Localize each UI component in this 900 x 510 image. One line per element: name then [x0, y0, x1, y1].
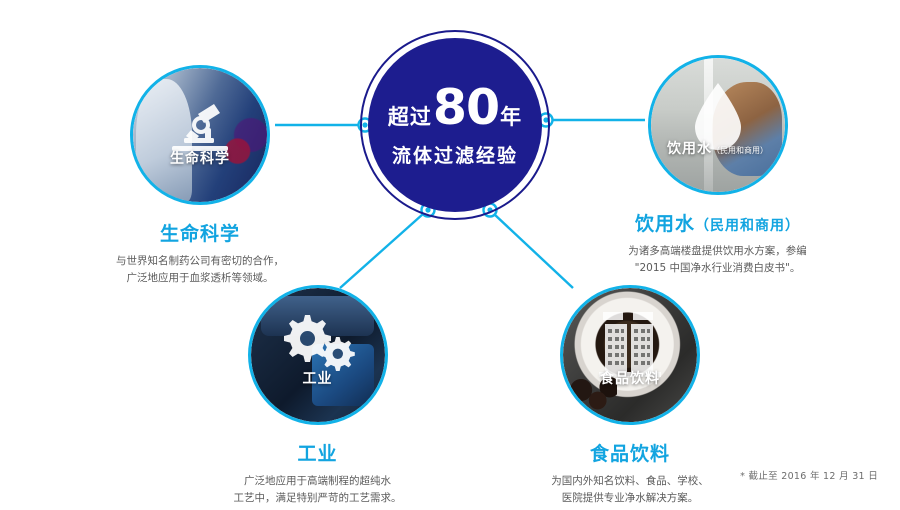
photo-caption-industrial: 工业 — [251, 368, 385, 388]
node-desc-line1: 为诸多高端楼盘提供饮用水方案，参编 — [580, 243, 855, 260]
node-desc-line1: 广泛地应用于高端制程的超纯水 — [195, 473, 440, 490]
connector-line-industrial — [340, 214, 423, 288]
node-title-main: 饮用水 — [635, 213, 695, 235]
node-title-drinking-water: 饮用水（民用和商用） — [580, 209, 855, 236]
node-desc-line2: 工艺中，满足特别严苛的工艺需求。 — [195, 490, 440, 507]
node-industrial[interactable]: 工业 工业 广泛地应用于高端制程的超纯水 工艺中，满足特别严苛的工艺需求。 — [195, 285, 440, 508]
photo-inner-drinking-water — [651, 58, 785, 192]
infographic-stage: 超过80年 流体过滤经验 — [0, 0, 900, 510]
node-desc-line2: 医院提供专业净水解决方案。 — [505, 490, 755, 507]
photo-circle-drinking-water[interactable]: 饮用水（民用和商用） — [648, 55, 788, 195]
photo-inner-industrial — [251, 288, 385, 422]
node-title-industrial: 工业 — [195, 439, 440, 466]
node-desc-food-beverage: 为国内外知名饮料、食品、学校、 医院提供专业净水解决方案。 — [505, 473, 755, 508]
photo-caption-text: 工业 — [303, 371, 333, 387]
node-desc-life-science: 与世界知名制药公司有密切的合作， 广泛地应用于血浆透析等领域。 — [65, 253, 335, 288]
hub-headline: 超过80年 — [388, 83, 522, 132]
center-hub: 超过80年 流体过滤经验 — [360, 30, 550, 220]
node-title-food-beverage: 食品饮料 — [505, 439, 755, 466]
photo-caption-text: 饮用水 — [667, 141, 712, 157]
photo-circle-industrial[interactable]: 工业 — [248, 285, 388, 425]
node-title-life-science: 生命科学 — [65, 219, 335, 246]
footnote: * 截止至 2016 年 12 月 31 日 — [740, 468, 878, 482]
photo-caption-drinking-water: 饮用水（民用和商用） — [651, 138, 785, 158]
photo-caption-life-science: 生命科学 — [133, 148, 267, 168]
photo-caption-text: 食品饮料 — [600, 371, 660, 387]
hub-subtitle: 流体过滤经验 — [392, 141, 518, 168]
connector-line-food-beverage — [494, 214, 573, 288]
center-hub-fill: 超过80年 流体过滤经验 — [368, 38, 542, 212]
hub-prefix: 超过 — [388, 107, 432, 128]
node-desc-line1: 为国内外知名饮料、食品、学校、 — [505, 473, 755, 490]
node-desc-drinking-water: 为诸多高端楼盘提供饮用水方案，参编 "2015 中国净水行业消费白皮书"。 — [580, 243, 855, 278]
node-title-paren: （民用和商用） — [695, 218, 800, 234]
node-life-science[interactable]: 生命科学 生命科学 与世界知名制药公司有密切的合作， 广泛地应用于血浆透析等领域… — [65, 65, 335, 288]
node-desc-industrial: 广泛地应用于高端制程的超纯水 工艺中，满足特别严苛的工艺需求。 — [195, 473, 440, 508]
photo-caption-food-beverage: 食品饮料 — [563, 368, 697, 388]
photo-caption-sub: （民用和商用） — [712, 146, 768, 155]
node-food-beverage[interactable]: 食品饮料 食品饮料 为国内外知名饮料、食品、学校、 医院提供专业净水解决方案。 — [505, 285, 755, 508]
photo-inner-food-beverage — [563, 288, 697, 422]
hub-number: 80 — [432, 83, 500, 132]
node-desc-line2: "2015 中国净水行业消费白皮书"。 — [580, 260, 855, 277]
photo-circle-life-science[interactable]: 生命科学 — [130, 65, 270, 205]
photo-caption-text: 生命科学 — [170, 151, 230, 167]
node-desc-line1: 与世界知名制药公司有密切的合作， — [65, 253, 335, 270]
hub-suffix: 年 — [500, 107, 522, 128]
photo-inner-life-science — [133, 68, 267, 202]
photo-circle-food-beverage[interactable]: 食品饮料 — [560, 285, 700, 425]
node-drinking-water[interactable]: 饮用水（民用和商用） 饮用水（民用和商用） 为诸多高端楼盘提供饮用水方案，参编 … — [580, 55, 855, 278]
